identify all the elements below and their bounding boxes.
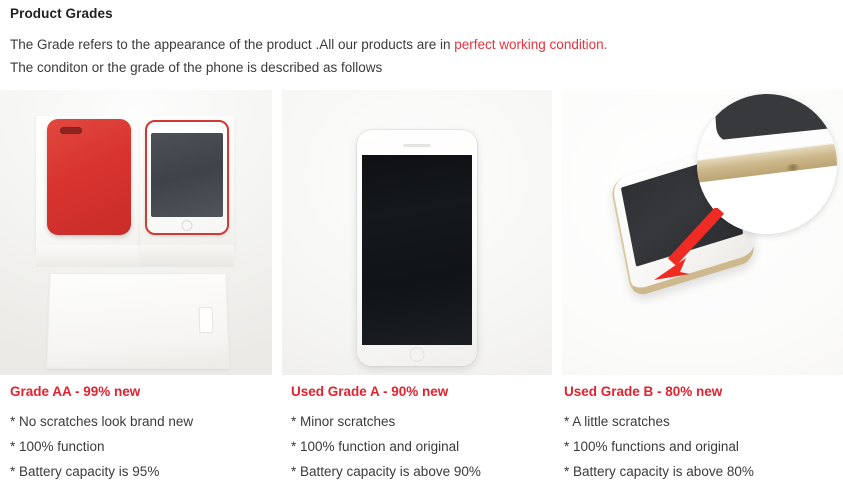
intro-text-trailing-period: . bbox=[604, 37, 608, 52]
header-block: Product Grades The Grade refers to the a… bbox=[0, 0, 843, 79]
grade-b-photo bbox=[562, 90, 843, 375]
photo2-earpiece-speaker bbox=[403, 144, 431, 147]
grade-aa-item-3: * Battery capacity is 95% bbox=[10, 459, 272, 484]
photo1-red-iphone-back bbox=[47, 119, 131, 235]
photo2-screen bbox=[362, 155, 472, 345]
photo1-accessory-tray bbox=[46, 273, 230, 369]
intro-line-2: The conditon or the grade of the phone i… bbox=[10, 56, 833, 79]
photo1-screen bbox=[151, 133, 223, 217]
grade-aa-photo bbox=[0, 90, 272, 375]
photo1-camera-module bbox=[60, 127, 82, 134]
grade-aa-item-2: * 100% function bbox=[10, 434, 272, 459]
grade-columns: Grade AA - 99% new * No scratches look b… bbox=[0, 383, 843, 484]
product-grades-page: Product Grades The Grade refers to the a… bbox=[0, 0, 843, 503]
intro-text-leading: The Grade refers to the appearance of th… bbox=[10, 37, 454, 52]
grade-aa-item-1: * No scratches look brand new bbox=[10, 409, 272, 434]
photo3-magnifier-inset bbox=[697, 94, 837, 234]
grade-a-item-3: * Battery capacity is above 90% bbox=[291, 459, 545, 484]
grade-a-item-1: * Minor scratches bbox=[291, 409, 545, 434]
grade-column-a: Used Grade A - 90% new * Minor scratches… bbox=[282, 383, 555, 484]
grade-column-b: Used Grade B - 80% new * A little scratc… bbox=[555, 383, 843, 484]
grade-b-title: Used Grade B - 80% new bbox=[564, 383, 833, 400]
grade-a-item-2: * 100% function and original bbox=[291, 434, 545, 459]
photo2-home-button bbox=[410, 347, 425, 362]
grade-b-item-1: * A little scratches bbox=[564, 409, 833, 434]
grade-a-photo bbox=[282, 90, 552, 375]
photo1-tray-notch bbox=[199, 307, 214, 333]
grade-column-aa: Grade AA - 99% new * No scratches look b… bbox=[0, 383, 282, 484]
photo1-right-box-side bbox=[140, 245, 234, 267]
grade-photo-strip bbox=[0, 90, 843, 375]
perfect-working-condition-highlight: perfect working condition bbox=[454, 37, 603, 52]
intro-line-1: The Grade refers to the appearance of th… bbox=[10, 33, 833, 56]
photo1-white-iphone-front bbox=[145, 120, 229, 235]
photo2-white-iphone bbox=[357, 130, 477, 366]
grade-aa-title: Grade AA - 99% new bbox=[10, 383, 272, 400]
grade-a-title: Used Grade A - 90% new bbox=[291, 383, 545, 400]
grade-b-item-3: * Battery capacity is above 80% bbox=[564, 459, 833, 484]
page-title: Product Grades bbox=[10, 6, 833, 22]
photo1-left-box-side bbox=[36, 245, 140, 267]
photo1-home-button bbox=[182, 220, 193, 231]
grade-b-item-2: * 100% functions and original bbox=[564, 434, 833, 459]
